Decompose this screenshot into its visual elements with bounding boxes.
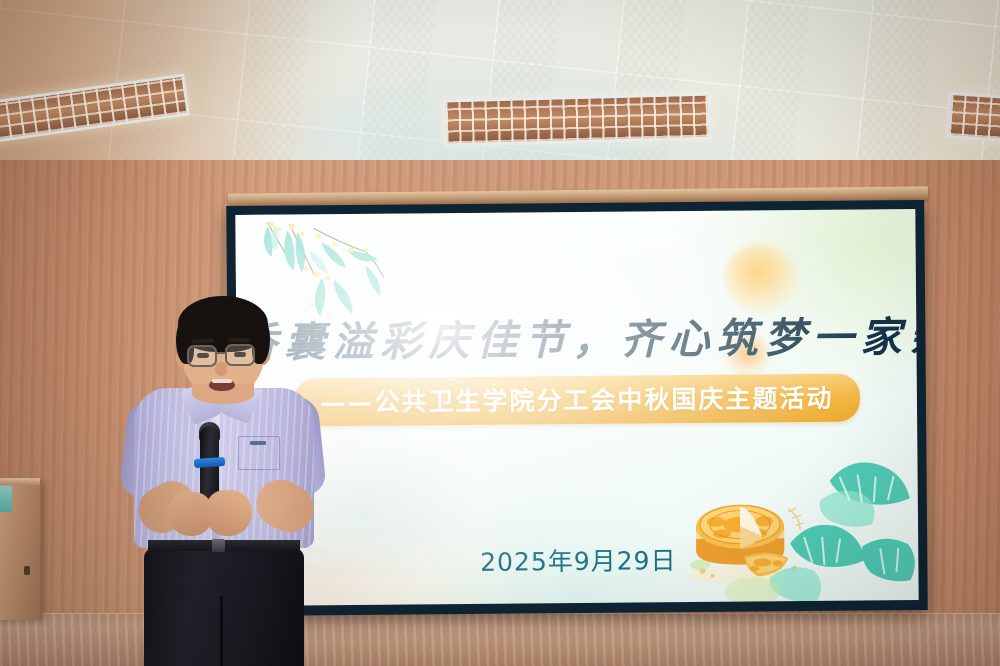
eyeglasses-lens-left bbox=[187, 345, 217, 367]
presenter-hand-right bbox=[206, 490, 252, 536]
belt-buckle bbox=[212, 539, 225, 552]
pen-icon bbox=[250, 441, 266, 445]
eyeglasses-lens-right bbox=[225, 344, 255, 366]
louver-horizontal bbox=[446, 96, 709, 144]
banner-pill: ——公共卫生学院分工会中秋国庆主题活动 bbox=[294, 374, 859, 427]
eyeglasses-bridge bbox=[216, 352, 227, 354]
presenter-teeth bbox=[212, 379, 232, 383]
recessed-troffer-center-icon bbox=[442, 93, 711, 147]
lectern-knob-icon[interactable] bbox=[24, 566, 30, 575]
presenter-trousers bbox=[144, 548, 304, 666]
presenter-nose bbox=[215, 362, 227, 376]
lectern-top-surface bbox=[0, 478, 40, 485]
suspended-grid-ceiling bbox=[0, 0, 1000, 182]
foliage-decoration bbox=[711, 450, 918, 606]
lectern-item[interactable] bbox=[0, 486, 12, 512]
trouser-leg-seam bbox=[220, 596, 223, 666]
presenter bbox=[108, 296, 358, 666]
conference-room-scene: 香囊溢彩庆佳节，齐心筑梦一家亲 ——公共卫生学院分工会中秋国庆主题活动 2025… bbox=[0, 0, 1000, 666]
banner-text: ——公共卫生学院分工会中秋国庆主题活动 bbox=[320, 384, 833, 417]
